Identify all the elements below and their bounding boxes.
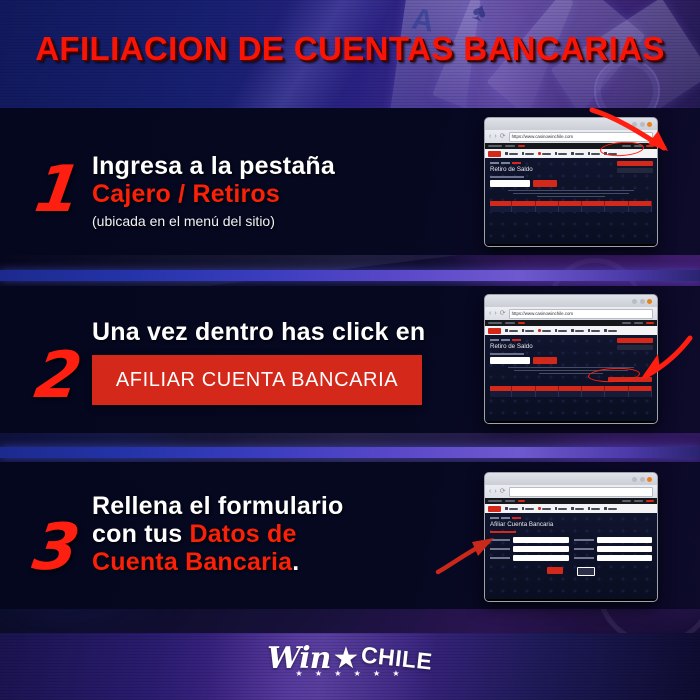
- step3-line3: Cuenta Bancaria.: [92, 548, 442, 576]
- back-icon[interactable]: ‹: [489, 310, 491, 317]
- back-icon[interactable]: ‹: [489, 488, 491, 495]
- page-title: AFILIACION DE CUENTAS BANCARIAS: [0, 30, 700, 68]
- step3-line2-red: Datos de: [189, 520, 296, 548]
- forward-icon[interactable]: ›: [494, 310, 496, 317]
- section-divider: [0, 447, 700, 458]
- form-input[interactable]: [513, 537, 569, 543]
- step3-line3-red: Cuenta Bancaria: [92, 548, 292, 576]
- reload-icon[interactable]: ⟳: [500, 310, 506, 317]
- form-cancel-button[interactable]: [577, 567, 595, 576]
- form-input[interactable]: [513, 546, 569, 552]
- browser-viewport: Retiro de Saldo: [485, 143, 657, 246]
- step2-line1: Una vez dentro has click en: [92, 318, 442, 346]
- form-input[interactable]: [597, 555, 653, 561]
- site-navbar[interactable]: [485, 326, 657, 335]
- table-row: [490, 206, 652, 212]
- step1-line2: Cajero / Retiros: [92, 180, 442, 208]
- browser-toolbar: ‹ › ⟳: [485, 485, 657, 498]
- step-text-3: Rellena el formulario con tus Datos de C…: [92, 492, 442, 576]
- url-bar[interactable]: https://www.casinowinchile.com: [509, 309, 653, 319]
- browser-titlebar: [485, 295, 657, 307]
- window-controls[interactable]: [632, 122, 652, 127]
- account-widget[interactable]: [617, 338, 653, 352]
- url-bar[interactable]: https://www.casinowinchile.com: [509, 132, 653, 142]
- step-text-1: Ingresa a la pestaña Cajero / Retiros (u…: [92, 152, 442, 229]
- breadcrumb: [490, 517, 652, 519]
- browser-viewport: Afiliar Cuenta Bancaria: [485, 498, 657, 601]
- browser-toolbar: ‹ › ⟳ https://www.casinowinchile.com: [485, 307, 657, 320]
- url-bar[interactable]: [509, 487, 653, 497]
- amount-input[interactable]: [490, 357, 530, 364]
- step-text-2: Una vez dentro has click en AFILIAR CUEN…: [92, 318, 442, 405]
- submit-button[interactable]: [533, 357, 557, 364]
- afiliar-cuenta-bancaria-button[interactable]: AFILIAR CUENTA BANCARIA: [92, 355, 422, 405]
- site-footer: [485, 244, 657, 246]
- step-number-2: 2: [31, 344, 86, 408]
- table-row: [490, 391, 652, 397]
- step1-note: (ubicada en el menú del sitio): [92, 213, 442, 229]
- back-icon[interactable]: ‹: [489, 133, 491, 140]
- account-widget[interactable]: [617, 161, 653, 175]
- form-input[interactable]: [513, 555, 569, 561]
- step-number-1: 1: [31, 158, 86, 222]
- step3-line2: con tus Datos de: [92, 520, 442, 548]
- browser-mockup-2[interactable]: ‹ › ⟳ https://www.casinowinchile.com: [484, 294, 658, 424]
- site-footer: [485, 599, 657, 601]
- step3-line1: Rellena el formulario: [92, 492, 442, 520]
- reload-icon[interactable]: ⟳: [500, 488, 506, 495]
- site-navbar[interactable]: [485, 504, 657, 513]
- submit-button[interactable]: [533, 180, 557, 187]
- site-logo-icon: [488, 151, 501, 157]
- section-divider: [0, 270, 700, 281]
- step3-line3-period: .: [292, 548, 299, 576]
- site-content: Afiliar Cuenta Bancaria: [485, 513, 657, 599]
- form-input[interactable]: [597, 546, 653, 552]
- step3-line2-white: con tus: [92, 520, 189, 548]
- browser-mockup-1[interactable]: ‹ › ⟳ https://www.casinowinchile.com: [484, 117, 658, 247]
- footer-bar: Win ★ CHILE ★ ★ ★ ★ ★ ★: [0, 633, 700, 700]
- content-heading: Afiliar Cuenta Bancaria: [490, 521, 652, 528]
- logo-star-arc: ★ ★ ★ ★ ★ ★: [0, 669, 700, 678]
- forward-icon[interactable]: ›: [494, 133, 496, 140]
- window-controls[interactable]: [632, 299, 652, 304]
- browser-titlebar: [485, 118, 657, 130]
- form-input[interactable]: [597, 537, 653, 543]
- step1-line1: Ingresa a la pestaña: [92, 152, 442, 180]
- header-banner: A ♠ AFILIACION DE CUENTAS BANCARIAS: [0, 0, 700, 108]
- browser-mockup-3[interactable]: ‹ › ⟳ Afiliar Cuenta Bancaria: [484, 472, 658, 602]
- site-logo-icon: [488, 328, 501, 334]
- site-footer: [485, 421, 657, 423]
- site-content: Retiro de Saldo: [485, 158, 657, 244]
- reload-icon[interactable]: ⟳: [500, 133, 506, 140]
- window-controls[interactable]: [632, 477, 652, 482]
- infographic-root: A ♠ AFILIACION DE CUENTAS BANCARIAS 1 In…: [0, 0, 700, 700]
- browser-titlebar: [485, 473, 657, 485]
- amount-input[interactable]: [490, 180, 530, 187]
- forward-icon[interactable]: ›: [494, 488, 496, 495]
- bank-account-form[interactable]: [490, 537, 652, 564]
- step-number-3: 3: [29, 516, 84, 580]
- form-save-button[interactable]: [547, 567, 563, 574]
- site-logo-icon: [488, 506, 501, 512]
